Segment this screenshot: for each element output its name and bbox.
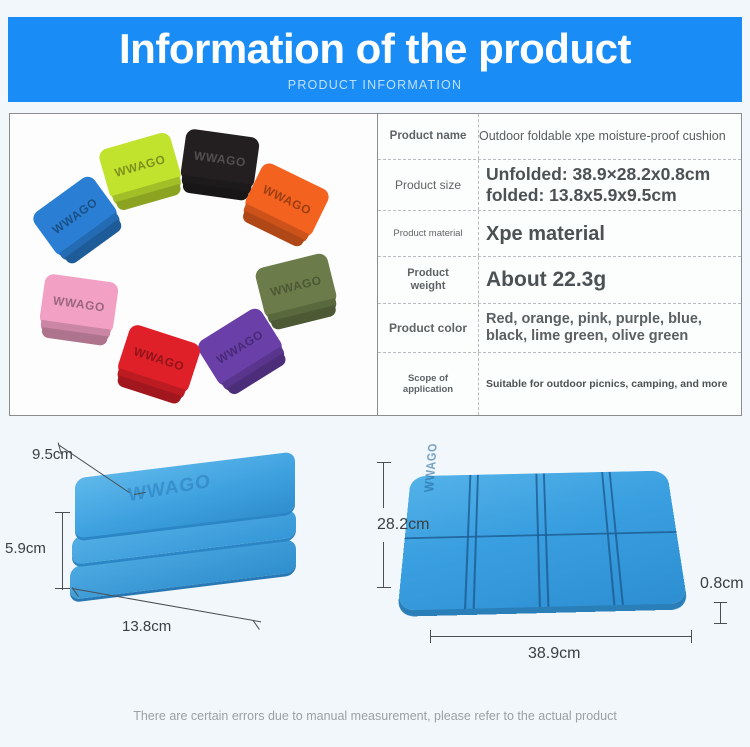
- spec-label: Scope of application: [378, 373, 478, 395]
- height-tick-bottom: [55, 588, 70, 589]
- spec-value: Outdoor foldable xpe moisture-proof cush…: [479, 129, 741, 144]
- spec-label: Product color: [378, 321, 478, 335]
- mat-width-tick-left: [430, 630, 431, 643]
- height-label: 5.9cm: [5, 540, 46, 557]
- crease-vertical-3: [601, 472, 615, 605]
- crease-vertical-2b: [543, 473, 550, 607]
- page-title: Information of the product: [119, 21, 631, 77]
- dimension-diagrams: WWAGO 9.5cm 5.9cm 13.8cm WWAGO: [0, 420, 750, 705]
- mat-brand-label: WWAGO: [421, 443, 440, 493]
- cushion-olive-green: WWAGO: [254, 252, 338, 320]
- height-dimension-line: [62, 512, 63, 590]
- mat-height-tick-bottom: [377, 587, 391, 588]
- measurement-disclaimer: There are certain errors due to manual m…: [0, 709, 750, 723]
- spec-row-product-name: Product name Outdoor foldable xpe moistu…: [378, 114, 741, 160]
- cushion-red: WWAGO: [116, 323, 202, 395]
- spec-label: Product size: [378, 178, 478, 192]
- spec-row-product-color: Product color Red, orange, pink, purple,…: [378, 304, 741, 354]
- spec-value: Unfolded: 38.9×28.2x0.8cm folded: 13.8x5…: [479, 164, 741, 206]
- spec-value: Xpe material: [479, 222, 741, 246]
- spec-value: Red, orange, pink, purple, blue, black, …: [479, 311, 741, 346]
- spec-label: Product weight: [378, 267, 478, 293]
- crease-vertical-2: [535, 473, 541, 607]
- spec-label: Product name: [378, 130, 478, 144]
- width-label: 13.8cm: [122, 618, 171, 635]
- mat-width-tick-right: [691, 630, 692, 643]
- depth-label: 9.5cm: [32, 446, 73, 463]
- spec-row-product-weight: Product weight About 22.3g: [378, 257, 741, 304]
- spec-row-product-material: Product material Xpe material: [378, 211, 741, 257]
- product-info-block: WWAGO WWAGO WWAGO WWAGO WWAGO: [9, 113, 742, 416]
- mat-width-line: [430, 636, 692, 637]
- product-photo: WWAGO WWAGO WWAGO WWAGO WWAGO: [10, 114, 378, 415]
- product-spec-table: Product name Outdoor foldable xpe moistu…: [378, 114, 741, 415]
- cushion-orange: WWAGO: [242, 160, 331, 239]
- folded-cushion-diagram: WWAGO 9.5cm 5.9cm 13.8cm: [0, 420, 375, 705]
- mat-height-line-lower: [383, 542, 384, 588]
- spec-value: About 22.3g: [479, 267, 741, 292]
- page-header-banner: Information of the product PRODUCT INFOR…: [8, 17, 742, 102]
- spec-label: Product material: [378, 228, 478, 239]
- spec-value: Suitable for outdoor picnics, camping, a…: [479, 378, 741, 391]
- mat-surface: WWAGO: [398, 471, 688, 611]
- mat-thickness-label: 0.8cm: [700, 575, 744, 593]
- cushion-black: WWAGO: [180, 128, 261, 190]
- height-tick-top: [55, 512, 70, 513]
- mat-thickness-line: [720, 602, 721, 624]
- spec-row-scope-of-application: Scope of application Suitable for outdoo…: [378, 353, 741, 415]
- mat-height-tick-top: [377, 462, 391, 463]
- mat-width-label: 38.9cm: [528, 645, 580, 663]
- unfolded-mat-diagram: WWAGO 28.2cm 38.9cm 0.8cm: [375, 420, 750, 705]
- spec-row-product-size: Product size Unfolded: 38.9×28.2x0.8cm f…: [378, 160, 741, 212]
- mat-height-line-upper: [383, 462, 384, 508]
- cushion-lime-green: WWAGO: [97, 131, 182, 201]
- mat-thickness-tick-bottom: [714, 623, 727, 624]
- cushion-pink: WWAGO: [39, 273, 120, 335]
- crease-horizontal-center: [405, 531, 677, 539]
- crease-vertical-1: [464, 475, 471, 609]
- mat-thickness-tick-top: [714, 602, 727, 603]
- crease-vertical-1b: [473, 475, 479, 609]
- mat-height-label: 28.2cm: [377, 516, 429, 534]
- page-subtitle: PRODUCT INFORMATION: [288, 77, 462, 93]
